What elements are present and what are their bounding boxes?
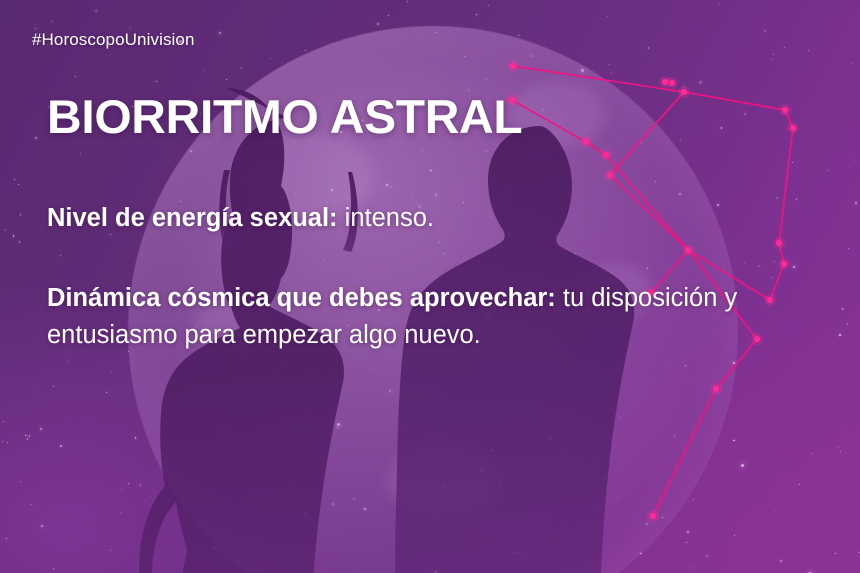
poster-canvas: #HoroscopoUnivision BIORRITMO ASTRAL Niv… bbox=[0, 0, 860, 573]
paragraph-lead: Nivel de energía sexual: bbox=[47, 204, 338, 232]
constellation-node bbox=[510, 63, 516, 69]
paragraph-cosmic-dynamic: Dinámica cósmica que debes aprovechar: t… bbox=[47, 280, 837, 354]
constellation-node bbox=[782, 107, 788, 113]
constellation-line bbox=[684, 92, 785, 110]
constellation-node bbox=[607, 172, 613, 178]
constellation-node bbox=[790, 125, 796, 131]
paragraph-energy-level: Nivel de energía sexual: intenso. bbox=[47, 200, 837, 237]
page-title: BIORRITMO ASTRAL bbox=[47, 93, 522, 140]
paragraph-lead: Dinámica cósmica que debes aprovechar: bbox=[47, 284, 556, 312]
paragraph-rest: intenso. bbox=[338, 204, 434, 232]
constellation-line bbox=[610, 92, 684, 175]
constellation-line bbox=[653, 389, 716, 516]
constellation-node bbox=[583, 139, 589, 145]
constellation-node bbox=[681, 89, 687, 95]
constellation-node bbox=[713, 386, 719, 392]
constellation-line bbox=[512, 100, 586, 142]
constellation-node bbox=[603, 152, 609, 158]
hashtag-label: #HoroscopoUnivision bbox=[32, 30, 195, 50]
constellation-node bbox=[669, 80, 675, 86]
constellation-line bbox=[513, 66, 684, 92]
body-copy: Nivel de energía sexual: intenso. Dinámi… bbox=[47, 200, 837, 354]
constellation-node bbox=[650, 513, 656, 519]
